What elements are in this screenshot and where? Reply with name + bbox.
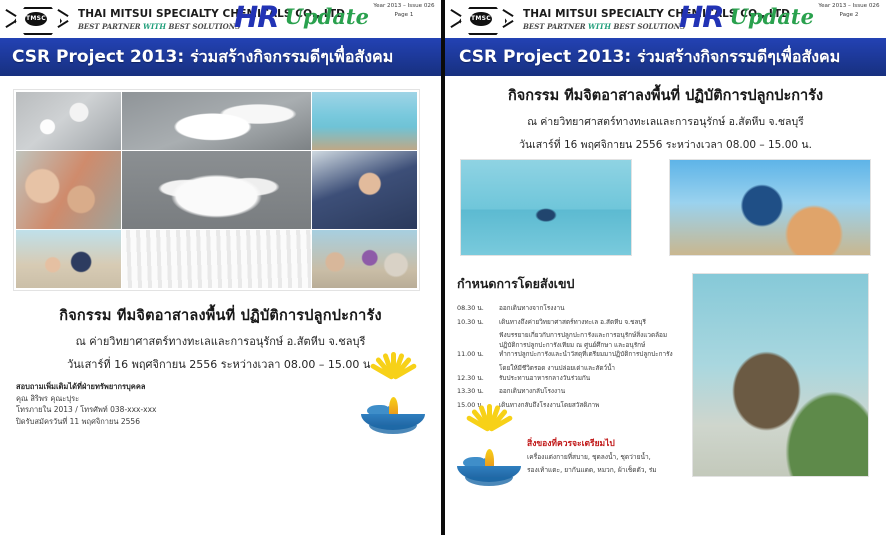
- update-word: Update: [285, 2, 369, 32]
- activity-heading-right: กิจกรรม ทีมจิตอาสาลงพื้นที่ ปฏิบัติการปล…: [445, 84, 886, 153]
- sun-boat-fish-emblem-icon: [357, 376, 429, 436]
- hr-update-wordmark: HR Update: [679, 2, 814, 32]
- tmsc-logo-text: TMSC: [25, 12, 47, 26]
- schedule-list: 08.30 น. ออกเดินทางจากโรงงาน 10.30 น. เด…: [457, 304, 689, 410]
- schedule-time: 15.00 น.: [457, 401, 499, 411]
- update-word: Update: [730, 2, 814, 32]
- signature-line-1: สอบถามเพิ่มเติมได้ที่ฝ่ายทรัพยากรบุคคล: [16, 381, 231, 393]
- page-number: Page 2: [817, 12, 881, 18]
- schedule-text: ทำการปลูกปะการังและนำวัสดุที่เตรียมมาปฏิ…: [499, 350, 689, 360]
- collage-photo-coral-row-on-table: [122, 230, 312, 288]
- contact-signature-block: สอบถามเพิ่มเติมได้ที่ฝ่ายทรัพยากรบุคคล ค…: [16, 381, 231, 428]
- photo-volunteers-line-on-beach: [693, 274, 868, 476]
- schedule-text: ออกเดินทางจากโรงงาน: [499, 304, 689, 314]
- activity-line-2: ณ ค่ายวิทยาศาสตร์ทางทะเลและการอนุรักษ์ อ…: [0, 332, 441, 350]
- schedule-item: 15.00 น. เดินทางกลับถึงโรงงานโดยสวัสดิภา…: [457, 401, 689, 411]
- schedule-time: 12.30 น.: [457, 374, 499, 384]
- schedule-item: 11.00 น. ทำการปลูกปะการังและนำวัสดุที่เต…: [457, 350, 689, 360]
- collage-photo-volunteer-man-portrait: [312, 151, 417, 229]
- schedule-section: กำหนดการโดยสังเขป 08.30 น. ออกเดินทางจาก…: [457, 274, 689, 414]
- tmsc-logo-text: TMSC: [470, 12, 492, 26]
- schedule-item: 08.30 น. ออกเดินทางจากโรงงาน: [457, 304, 689, 314]
- collage-photo-coral-specimen-large: [122, 151, 312, 229]
- collage-photo-coral-closeup-2: [122, 92, 312, 150]
- blue-title-banner-left: CSR Project 2013: ร่วมสร้างกิจกรรมดีๆเพื…: [0, 38, 441, 76]
- schedule-item: 12.30 น. รับประทานอาหารกลางวันร่วมกัน: [457, 374, 689, 384]
- schedule-item: 10.30 น. เดินทางถึงค่ายวิทยาศาสตร์ทางทะเ…: [457, 318, 689, 328]
- collage-photo-hands-tying-coral: [16, 151, 121, 229]
- issue-info-left: Year 2013 – Issue 026 Page 1: [372, 3, 436, 18]
- schedule-subtext: ปฏิบัติการปลูกปะการังเทียม ณ ศูนย์ศึกษา …: [499, 341, 689, 351]
- activity-heading-left: กิจกรรม ทีมจิตอาสาลงพื้นที่ ปฏิบัติการปล…: [0, 304, 441, 373]
- schedule-time: 13.30 น.: [457, 387, 499, 397]
- signature-line-3: โทรภายใน 2013 / โทรศัพท์ 038-xxx-xxx: [16, 404, 231, 416]
- blue-title-banner-right: CSR Project 2013: ร่วมสร้างกิจกรรมดีๆเพื…: [445, 38, 886, 76]
- collage-photo-beach-group-photo: [16, 230, 121, 288]
- hr-update-wordmark: HR Update: [234, 2, 369, 32]
- activity-line-3: วันเสาร์ที่ 16 พฤศจิกายน 2556 ระหว่างเวล…: [445, 136, 886, 153]
- schedule-subtext: โดยให้มีชีวิตรอด งานปล่อยเต่าและสัตว์น้ำ: [499, 364, 689, 374]
- newsletter-page-2: TMSC THAI MITSUI SPECIALTY CHEMICALS CO.…: [445, 0, 886, 535]
- schedule-text: รับประทานอาหารกลางวันร่วมกัน: [499, 374, 689, 384]
- hr-word: HR: [679, 2, 724, 32]
- page-1-body: กิจกรรม ทีมจิตอาสาลงพื้นที่ ปฏิบัติการปล…: [0, 76, 441, 535]
- schedule-item: 13.30 น. ออกเดินทางกลับโรงงาน: [457, 387, 689, 397]
- issue-info-right: Year 2013 – Issue 026 Page 2: [817, 3, 881, 18]
- issue-line: Year 2013 – Issue 026: [372, 3, 436, 9]
- collage-photo-boat-sea-group: [312, 92, 417, 150]
- letterhead-right: TMSC THAI MITSUI SPECIALTY CHEMICALS CO.…: [445, 0, 886, 38]
- newsletter-page-1: TMSC THAI MITSUI SPECIALTY CHEMICALS CO.…: [0, 0, 441, 535]
- screenshot-root: TMSC THAI MITSUI SPECIALTY CHEMICALS CO.…: [0, 0, 886, 535]
- signature-line-2: คุณ สิริพร คุณะปุระ: [16, 393, 231, 405]
- letterhead-left: TMSC THAI MITSUI SPECIALTY CHEMICALS CO.…: [0, 0, 441, 38]
- tmsc-logo-icon: TMSC: [6, 2, 68, 36]
- issue-line: Year 2013 – Issue 026: [817, 3, 881, 9]
- photo-collage: [14, 90, 419, 290]
- schedule-text: เดินทางถึงค่ายวิทยาศาสตร์ทางทะเล อ.สัตหี…: [499, 318, 689, 328]
- photo-floating-research-raft: [461, 160, 631, 255]
- schedule-text: เดินทางกลับถึงโรงงานโดยสวัสดิภาพ: [499, 401, 689, 411]
- items-to-bring-block: สิ่งของที่ควรจะเตรียมไป เครื่องแต่งกายที…: [527, 436, 687, 476]
- schedule-subtext: ฟังบรรยายเกี่ยวกับการปลูกปะการังและการอน…: [499, 331, 689, 341]
- banner-title: CSR Project 2013: ร่วมสร้างกิจกรรมดีๆเพื…: [459, 45, 840, 70]
- items-to-bring-title: สิ่งของที่ควรจะเตรียมไป: [527, 436, 687, 450]
- page-2-body: กิจกรรม ทีมจิตอาสาลงพื้นที่ ปฏิบัติการปล…: [445, 76, 886, 535]
- hr-word: HR: [234, 2, 279, 32]
- tmsc-logo-icon: TMSC: [451, 2, 513, 36]
- photo-blue-station-volunteers: [670, 160, 870, 255]
- page-number: Page 1: [372, 12, 436, 18]
- schedule-time: 11.00 น.: [457, 350, 499, 360]
- banner-title: CSR Project 2013: ร่วมสร้างกิจกรรมดีๆเพื…: [12, 45, 393, 70]
- schedule-time: 08.30 น.: [457, 304, 499, 314]
- activity-line-1: กิจกรรม ทีมจิตอาสาลงพื้นที่ ปฏิบัติการปล…: [0, 304, 441, 327]
- activity-line-2: ณ ค่ายวิทยาศาสตร์ทางทะเลและการอนุรักษ์ อ…: [445, 113, 886, 130]
- items-to-bring-line: เครื่องแต่งกายที่สบาย, ชุดลงน้ำ, ชุดว่าย…: [527, 453, 687, 463]
- activity-line-1: กิจกรรม ทีมจิตอาสาลงพื้นที่ ปฏิบัติการปล…: [445, 84, 886, 107]
- collage-photo-coral-closeup-1: [16, 92, 121, 150]
- schedule-text: ออกเดินทางกลับโรงงาน: [499, 387, 689, 397]
- sun-boat-fish-emblem-icon: [453, 428, 525, 488]
- collage-photo-crowd-on-beach: [312, 230, 417, 288]
- items-to-bring-line: รองเท้าแตะ, ยากันแดด, หมวก, ผ้าเช็ดตัว, …: [527, 466, 687, 476]
- signature-line-4: ปิดรับสมัครวันที่ 11 พฤศจิกายน 2556: [16, 416, 231, 428]
- schedule-time: 10.30 น.: [457, 318, 499, 328]
- schedule-title: กำหนดการโดยสังเขป: [457, 274, 689, 294]
